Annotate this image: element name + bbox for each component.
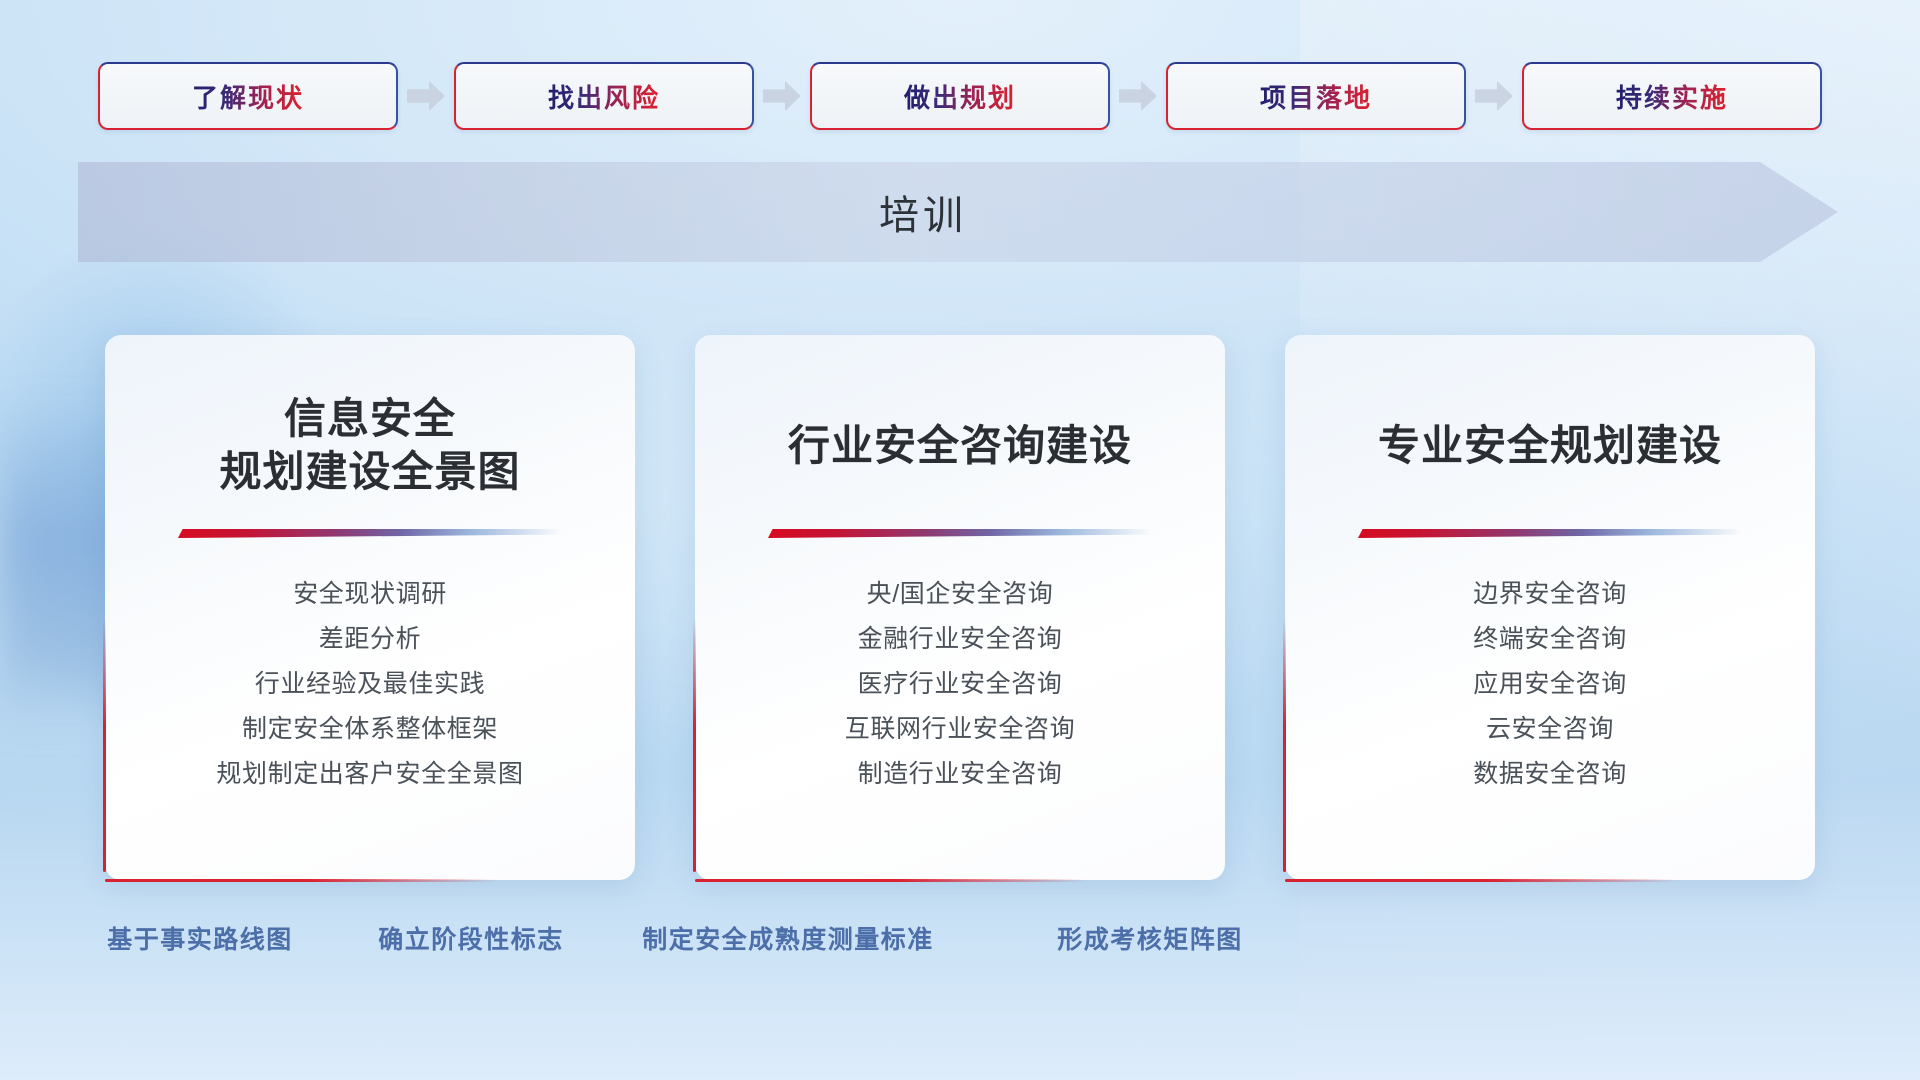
card-title-line-1: 专业安全规划建设 [1378,420,1722,473]
card-item-list: 边界安全咨询 终端安全咨询 应用安全咨询 云安全咨询 数据安全咨询 [1473,582,1627,787]
card-row: 信息安全 规划建设全景图 安全现状调研 差距分析 行业经验及最佳实践 制定安全体… [0,335,1920,880]
list-item: 安全现状调研 [216,582,523,627]
step-chip-label: 找出风险 [548,78,660,115]
card-divider-rule [178,529,562,538]
slide-stage: 了解现状 找出风险 做出规划 项目落地 持续实施 培训 [0,0,1920,1080]
list-item: 行业经验及最佳实践 [216,672,523,717]
step-arrow-4 [1466,76,1522,116]
card-divider-rule [1358,529,1742,538]
card-industry-security-consulting[interactable]: 行业安全咨询建设 央/国企安全咨询 金融行业安全咨询 医疗行业安全咨询 互联网行… [695,335,1225,880]
card-item-list: 安全现状调研 差距分析 行业经验及最佳实践 制定安全体系整体框架 规划制定出客户… [216,582,523,787]
process-step-row: 了解现状 找出风险 做出规划 项目落地 持续实施 [0,62,1920,130]
card-title: 信息安全 规划建设全景图 [219,393,520,499]
card-professional-security-planning[interactable]: 专业安全规划建设 边界安全咨询 终端安全咨询 应用安全咨询 云安全咨询 数据安全… [1285,335,1815,880]
step-chip-label: 持续实施 [1616,78,1728,115]
list-item: 云安全咨询 [1473,717,1627,762]
step-chip-4[interactable]: 项目落地 [1166,62,1466,130]
arrow-right-icon [1119,81,1157,111]
list-item: 制定安全体系整体框架 [216,717,523,762]
list-item: 边界安全咨询 [1473,582,1627,627]
card-title-line-2: 规划建设全景图 [219,448,520,495]
list-item: 医疗行业安全咨询 [845,672,1075,717]
step-chip-3[interactable]: 做出规划 [810,62,1110,130]
step-chip-5[interactable]: 持续实施 [1522,62,1822,130]
arrow-right-icon [1475,81,1513,111]
arrow-right-icon [763,81,801,111]
step-chip-label: 了解现状 [192,78,304,115]
card-title-line-1: 行业安全咨询建设 [788,420,1132,473]
list-item: 央/国企安全咨询 [845,582,1075,627]
card-title-line-1: 信息安全 [284,395,456,442]
training-banner: 培训 [78,162,1838,262]
footer-label-matrix: 形成考核矩阵图 [1057,920,1243,956]
footer-label-maturity: 制定安全成熟度测量标准 [642,920,934,956]
step-arrow-3 [1110,76,1166,116]
card-item-list: 央/国企安全咨询 金融行业安全咨询 医疗行业安全咨询 互联网行业安全咨询 制造行… [845,582,1075,787]
list-item: 互联网行业安全咨询 [845,717,1075,762]
list-item: 应用安全咨询 [1473,672,1627,717]
list-item: 差距分析 [216,627,523,672]
footer-label-milestone: 确立阶段性标志 [378,920,564,956]
step-arrow-2 [754,76,810,116]
step-arrow-1 [398,76,454,116]
list-item: 制造行业安全咨询 [845,762,1075,787]
step-chip-2[interactable]: 找出风险 [454,62,754,130]
list-item: 金融行业安全咨询 [845,627,1075,672]
footer-label-roadmap: 基于事实路线图 [107,920,293,956]
footer-label-row: 基于事实路线图 确立阶段性标志 制定安全成熟度测量标准 形成考核矩阵图 [0,920,1920,966]
step-chip-label: 做出规划 [904,78,1016,115]
step-chip-1[interactable]: 了解现状 [98,62,398,130]
card-title: 行业安全咨询建设 [788,393,1132,499]
card-information-security-panorama[interactable]: 信息安全 规划建设全景图 安全现状调研 差距分析 行业经验及最佳实践 制定安全体… [105,335,635,880]
list-item: 终端安全咨询 [1473,627,1627,672]
list-item: 规划制定出客户安全全景图 [216,762,523,787]
arrow-right-icon [407,81,445,111]
card-title: 专业安全规划建设 [1378,393,1722,499]
list-item: 数据安全咨询 [1473,762,1627,787]
card-divider-rule [768,529,1152,538]
step-chip-label: 项目落地 [1260,78,1372,115]
training-banner-label: 培训 [78,162,1838,262]
